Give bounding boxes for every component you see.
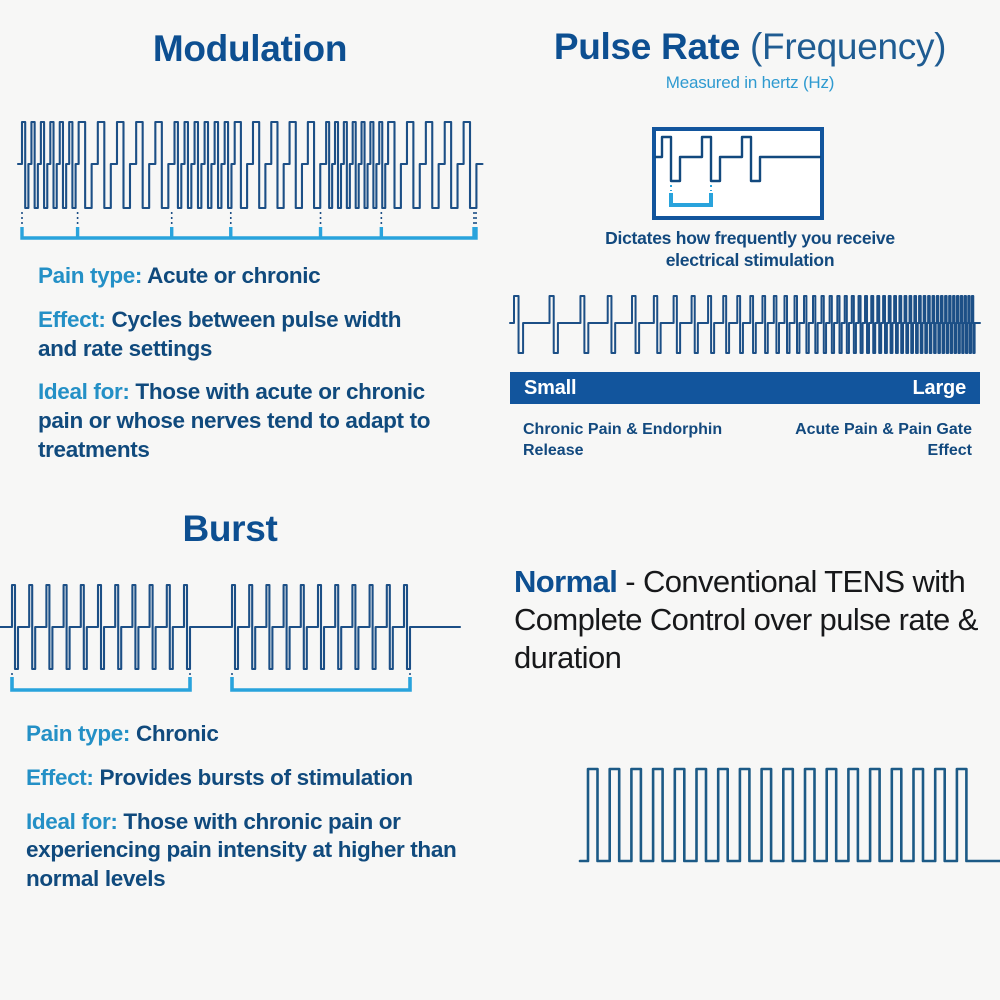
fact-pain-type: Pain type: Chronic (26, 720, 466, 749)
scale-right-label: Large (913, 377, 966, 400)
fact-ideal-for: Ideal for: Those with chronic pain or ex… (26, 808, 466, 894)
fact-value: Chronic (136, 721, 219, 746)
burst-title: Burst (0, 510, 460, 549)
modulation-waveform (18, 102, 478, 242)
modulation-facts: Pain type: Acute or chronic Effect: Cycl… (38, 262, 438, 480)
scale-left-label: Small (524, 377, 576, 400)
modulation-title: Modulation (0, 30, 500, 69)
fact-label: Pain type: (26, 721, 130, 746)
burst-facts: Pain type: Chronic Effect: Provides burs… (26, 720, 466, 909)
normal-description: Normal - Conventional TENS with Complete… (514, 563, 1000, 676)
fact-ideal-for: Ideal for: Those with acute or chronic p… (38, 378, 438, 464)
normal-square-waveform (580, 755, 1000, 875)
fact-label: Ideal for: (26, 809, 118, 834)
fact-value: Provides bursts of stimulation (99, 765, 412, 790)
pulse-rate-box-caption: Dictates how frequently you receive elec… (580, 228, 920, 272)
pulse-rate-title: Pulse Rate (Frequency) (500, 28, 1000, 67)
fact-label: Pain type: (38, 263, 142, 288)
pulse-rate-panel: Pulse Rate (Frequency) Measured in hertz… (500, 28, 1000, 488)
infographic-page: Modulation Pain type: Acute or chronic E… (0, 0, 1000, 1000)
fact-label: Effect: (26, 765, 94, 790)
fact-effect: Effect: Provides bursts of stimulation (26, 764, 466, 793)
scale-right-caption: Acute Pain & Pain Gate Effect (770, 420, 972, 462)
scale-left-caption: Chronic Pain & Endorphin Release (523, 420, 723, 462)
fact-pain-type: Pain type: Acute or chronic (38, 262, 438, 291)
burst-waveform (0, 572, 460, 697)
fact-effect: Effect: Cycles between pulse width and r… (38, 306, 438, 364)
frequency-scale-bar: Small Large (510, 372, 980, 404)
modulation-panel: Modulation Pain type: Acute or chronic E… (0, 30, 500, 490)
pulse-rate-subtitle: Measured in hertz (Hz) (500, 73, 1000, 93)
pulse-rate-detail-box (652, 127, 824, 220)
normal-title: Normal (514, 564, 617, 599)
normal-panel: Normal - Conventional TENS with Complete… (500, 555, 1000, 955)
burst-panel: Burst Pain type: Chronic Effect: Provide… (0, 510, 500, 960)
pulse-rate-gradient-waveform (510, 290, 980, 370)
pulse-rate-title-light: (Frequency) (750, 26, 946, 67)
fact-label: Ideal for: (38, 379, 130, 404)
fact-value: Acute or chronic (147, 263, 320, 288)
pulse-rate-title-bold: Pulse Rate (554, 26, 740, 67)
fact-label: Effect: (38, 307, 106, 332)
